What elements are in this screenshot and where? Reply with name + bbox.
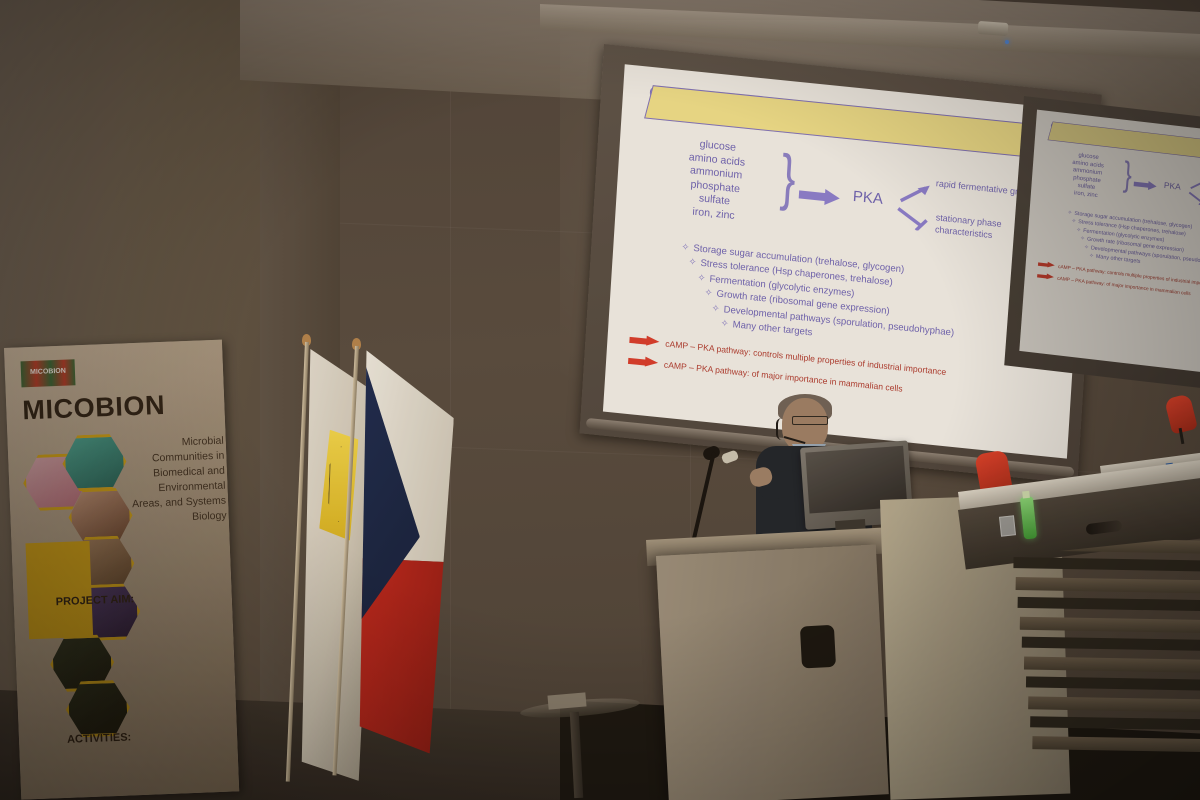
diamond-bullet-icon: ✧ (720, 318, 729, 330)
branch-inhibit-icon (1187, 191, 1200, 205)
nutrient-list: glucose amino acids ammonium phosphate s… (653, 134, 778, 228)
slide-content-duplicate: General nutrient signaling pathway gluco… (1019, 110, 1200, 379)
diamond-bullet-icon: ✧ (681, 242, 690, 254)
block-arrow-icon (1133, 179, 1157, 190)
diamond-bullet-icon: ✧ (697, 272, 706, 284)
diamond-bullet-icon: ✧ (704, 287, 713, 299)
diamond-bullet-icon: ✧ (1076, 227, 1081, 234)
block-arrow-icon (799, 186, 842, 205)
banner-shadow-overlay (4, 340, 239, 800)
diamond-bullet-icon: ✧ (688, 257, 697, 269)
red-arrow-icon (1038, 261, 1055, 269)
projector (978, 21, 1009, 36)
projector-led-icon (1005, 40, 1009, 44)
branch-arrow-up-icon (1190, 178, 1200, 191)
diamond-bullet-icon: ✧ (1089, 253, 1094, 260)
pka-label: PKA (1164, 181, 1181, 192)
diamond-bullet-icon: ✧ (1067, 209, 1072, 216)
micobion-banner: MICOBION MICOBION Microbial Communities … (4, 340, 239, 800)
curly-brace-icon: } (1123, 157, 1134, 193)
screen-surface: General nutrient signaling pathway gluco… (1019, 110, 1200, 380)
pka-label: PKA (852, 188, 883, 208)
glasses-icon (792, 416, 828, 425)
lectern (656, 544, 889, 800)
diamond-bullet-icon: ✧ (1084, 244, 1089, 251)
lecture-hall-stairs (1012, 535, 1200, 800)
lecture-hall-photo: General nutrient signaling pathway gluco… (0, 0, 1200, 800)
drinking-glass (999, 515, 1016, 536)
projection-screen-secondary: General nutrient signaling pathway gluco… (1004, 96, 1200, 396)
lectern-cutout (800, 625, 836, 669)
red-arrow-icon (629, 334, 660, 348)
diamond-bullet-icon: ✧ (1071, 218, 1076, 225)
diamond-bullet-icon: ✧ (1080, 235, 1085, 242)
branch-arrow-up-icon (899, 183, 932, 206)
curly-brace-icon: } (779, 147, 797, 210)
branch-inhibit-icon (895, 206, 930, 231)
nutrient-list: glucose amino acids ammonium phosphate s… (1052, 149, 1122, 202)
diamond-bullet-icon: ✧ (711, 303, 720, 315)
red-arrow-icon (1037, 273, 1054, 281)
red-arrow-icon (628, 355, 659, 369)
